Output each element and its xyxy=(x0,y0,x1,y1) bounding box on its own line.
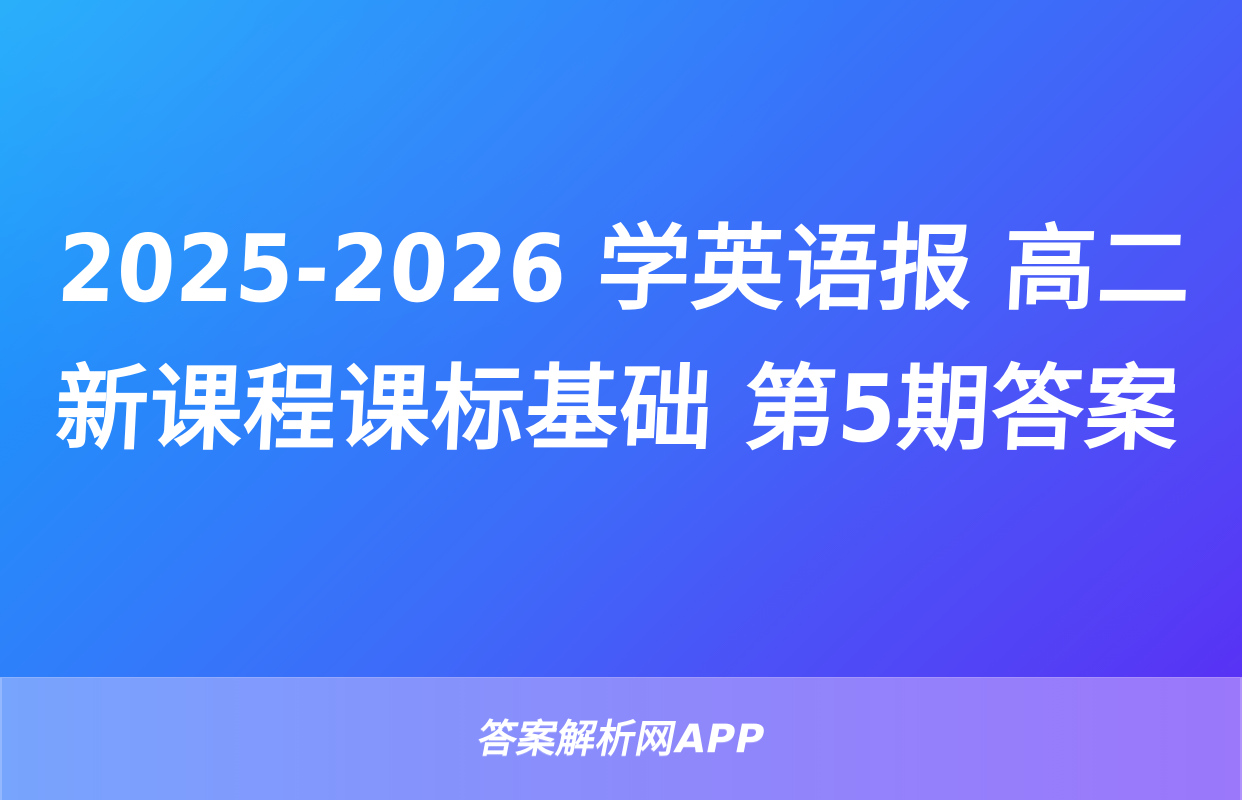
app-wordmark: 答案解析网APP xyxy=(474,720,768,759)
page-title: 2025-2026 学英语报 高二 新课程课标基础 第5期答案 xyxy=(39,199,1204,479)
poster-canvas: 2025-2026 学英语报 高二 新课程课标基础 第5期答案 答案解析网APP xyxy=(0,0,1242,800)
title-area: 2025-2026 学英语报 高二 新课程课标基础 第5期答案 xyxy=(0,0,1242,678)
footer-watermark-band: 答案解析网APP xyxy=(0,677,1242,800)
